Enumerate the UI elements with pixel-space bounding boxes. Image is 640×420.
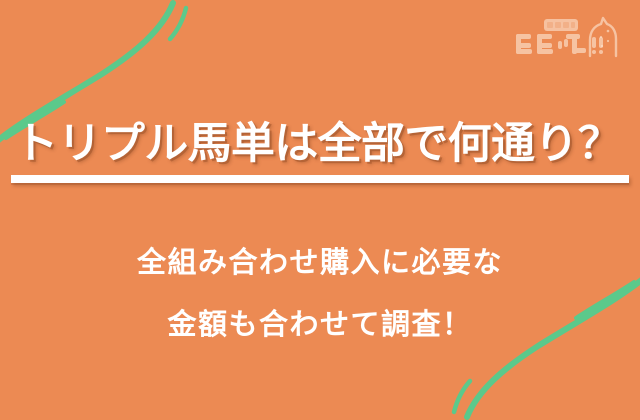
subcopy-block: 全組み合わせ購入に必要な 金額も合わせて調査！ [0, 232, 640, 356]
subcopy-line-1: 全組み合わせ購入に必要な [0, 232, 640, 294]
article-thumbnail-banner: トリプル馬単は全部で何通り？ 全組み合わせ購入に必要な 金額も合わせて調査！ [0, 0, 640, 420]
subcopy-line-2: 金額も合わせて調査！ [0, 294, 640, 356]
headline-block: トリプル馬単は全部で何通り？ [0, 118, 640, 170]
page-title: トリプル馬単は全部で何通り？ [0, 118, 640, 170]
site-logo[interactable] [504, 10, 622, 68]
headline-underline [11, 175, 629, 183]
